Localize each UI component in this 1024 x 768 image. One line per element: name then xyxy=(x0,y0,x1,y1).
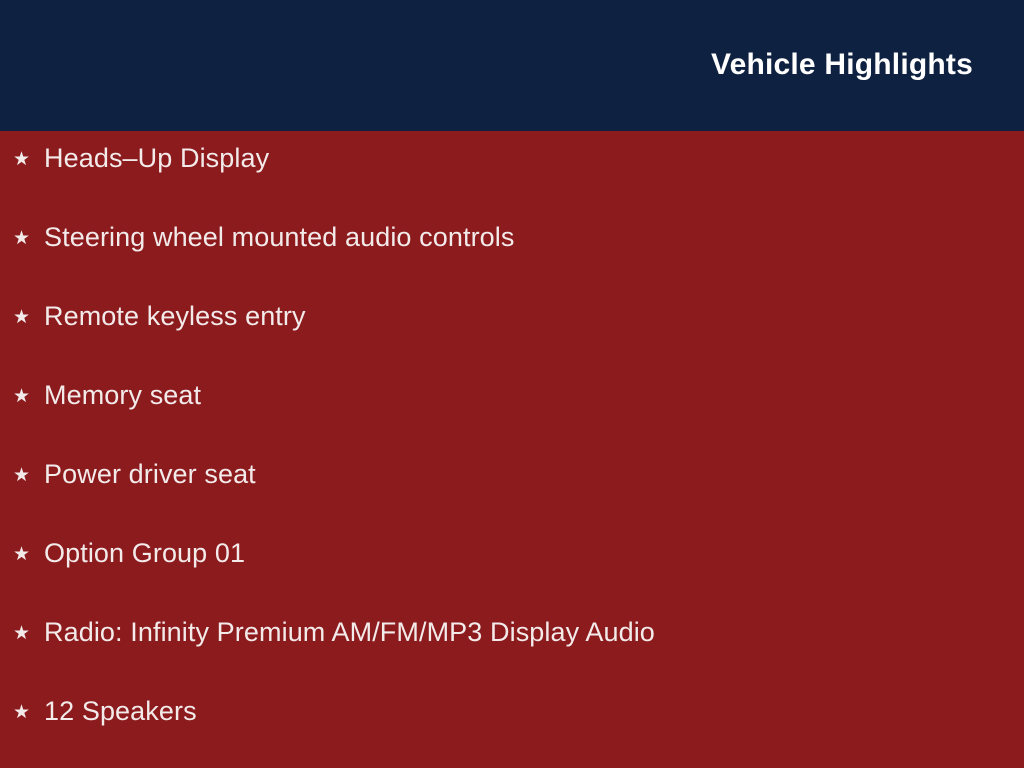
list-item: ★ Option Group 01 xyxy=(0,540,1024,619)
vehicle-highlights-slide: Vehicle Highlights ★ Heads–Up Display ★ … xyxy=(0,0,1024,768)
list-item: ★ Remote keyless entry xyxy=(0,303,1024,382)
list-item-label: Remote keyless entry xyxy=(44,303,306,330)
star-icon: ★ xyxy=(13,703,44,722)
list-item-label: Power driver seat xyxy=(44,461,256,488)
star-icon: ★ xyxy=(13,545,44,564)
list-item: ★ 12 Speakers xyxy=(0,698,1024,768)
star-icon: ★ xyxy=(13,150,44,169)
list-item-label: Heads–Up Display xyxy=(44,145,269,172)
star-icon: ★ xyxy=(13,229,44,248)
vehicle-highlights-list: ★ Heads–Up Display ★ Steering wheel moun… xyxy=(0,145,1024,768)
list-item: ★ Power driver seat xyxy=(0,461,1024,540)
list-item-label: Radio: Infinity Premium AM/FM/MP3 Displa… xyxy=(44,619,655,646)
slide-body: ★ Heads–Up Display ★ Steering wheel moun… xyxy=(0,131,1024,768)
slide-header-band: Vehicle Highlights xyxy=(0,0,1024,131)
star-icon: ★ xyxy=(13,466,44,485)
star-icon: ★ xyxy=(13,624,44,643)
star-icon: ★ xyxy=(13,387,44,406)
star-icon: ★ xyxy=(13,308,44,327)
list-item-label: Memory seat xyxy=(44,382,201,409)
slide-title: Vehicle Highlights xyxy=(711,0,1024,80)
list-item-label: 12 Speakers xyxy=(44,698,197,725)
list-item: ★ Memory seat xyxy=(0,382,1024,461)
list-item: ★ Heads–Up Display xyxy=(0,145,1024,224)
list-item: ★ Radio: Infinity Premium AM/FM/MP3 Disp… xyxy=(0,619,1024,698)
list-item-label: Steering wheel mounted audio controls xyxy=(44,224,515,251)
list-item-label: Option Group 01 xyxy=(44,540,245,567)
list-item: ★ Steering wheel mounted audio controls xyxy=(0,224,1024,303)
